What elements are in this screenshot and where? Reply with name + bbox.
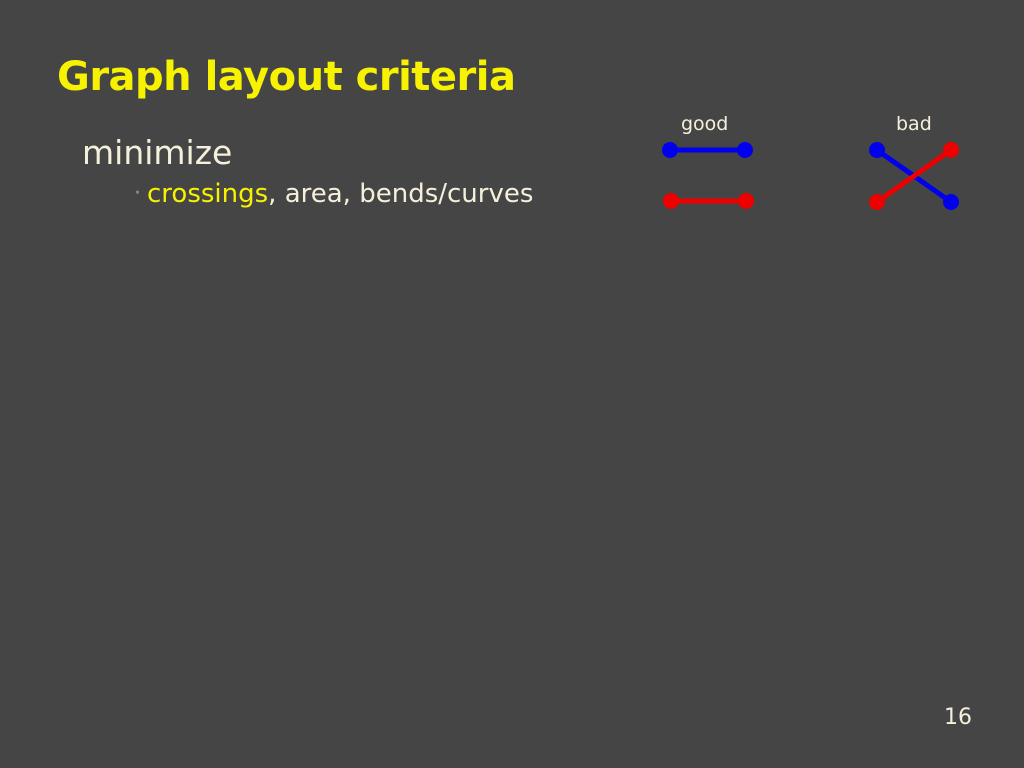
slide-canvas: Graph layout criteria minimize ·crossing… [0,0,1024,768]
bullet-dot-icon: · [134,181,147,206]
good-graph-node [738,193,754,209]
bad-graph-node [869,194,885,210]
bad-graph-node [869,142,885,158]
content-body: minimize ·crossings, area, bends/curves [82,134,642,209]
bad-graph-edges [877,150,951,202]
bad-graph-node [943,142,959,158]
page-title: Graph layout criteria [57,57,515,97]
good-graph-node [737,142,753,158]
bullet-level1: minimize [82,134,642,173]
bullet-level2-rest: , area, bends/curves [268,179,533,209]
bullet-level2: ·crossings, area, bends/curves [134,180,642,209]
bad-graph-node [943,194,959,210]
good-graph [662,142,754,209]
bullet-level2-highlight: crossings [147,179,268,209]
page-number: 16 [944,705,972,730]
bad-graph [869,142,959,210]
bullet-level1-label: minimize [82,133,232,172]
good-graph-node [662,142,678,158]
good-graph-node [663,193,679,209]
graph-comparison-figure: good bad [640,108,1000,228]
good-graph-edges [670,150,746,201]
graph-diagram-svg [640,108,1000,228]
